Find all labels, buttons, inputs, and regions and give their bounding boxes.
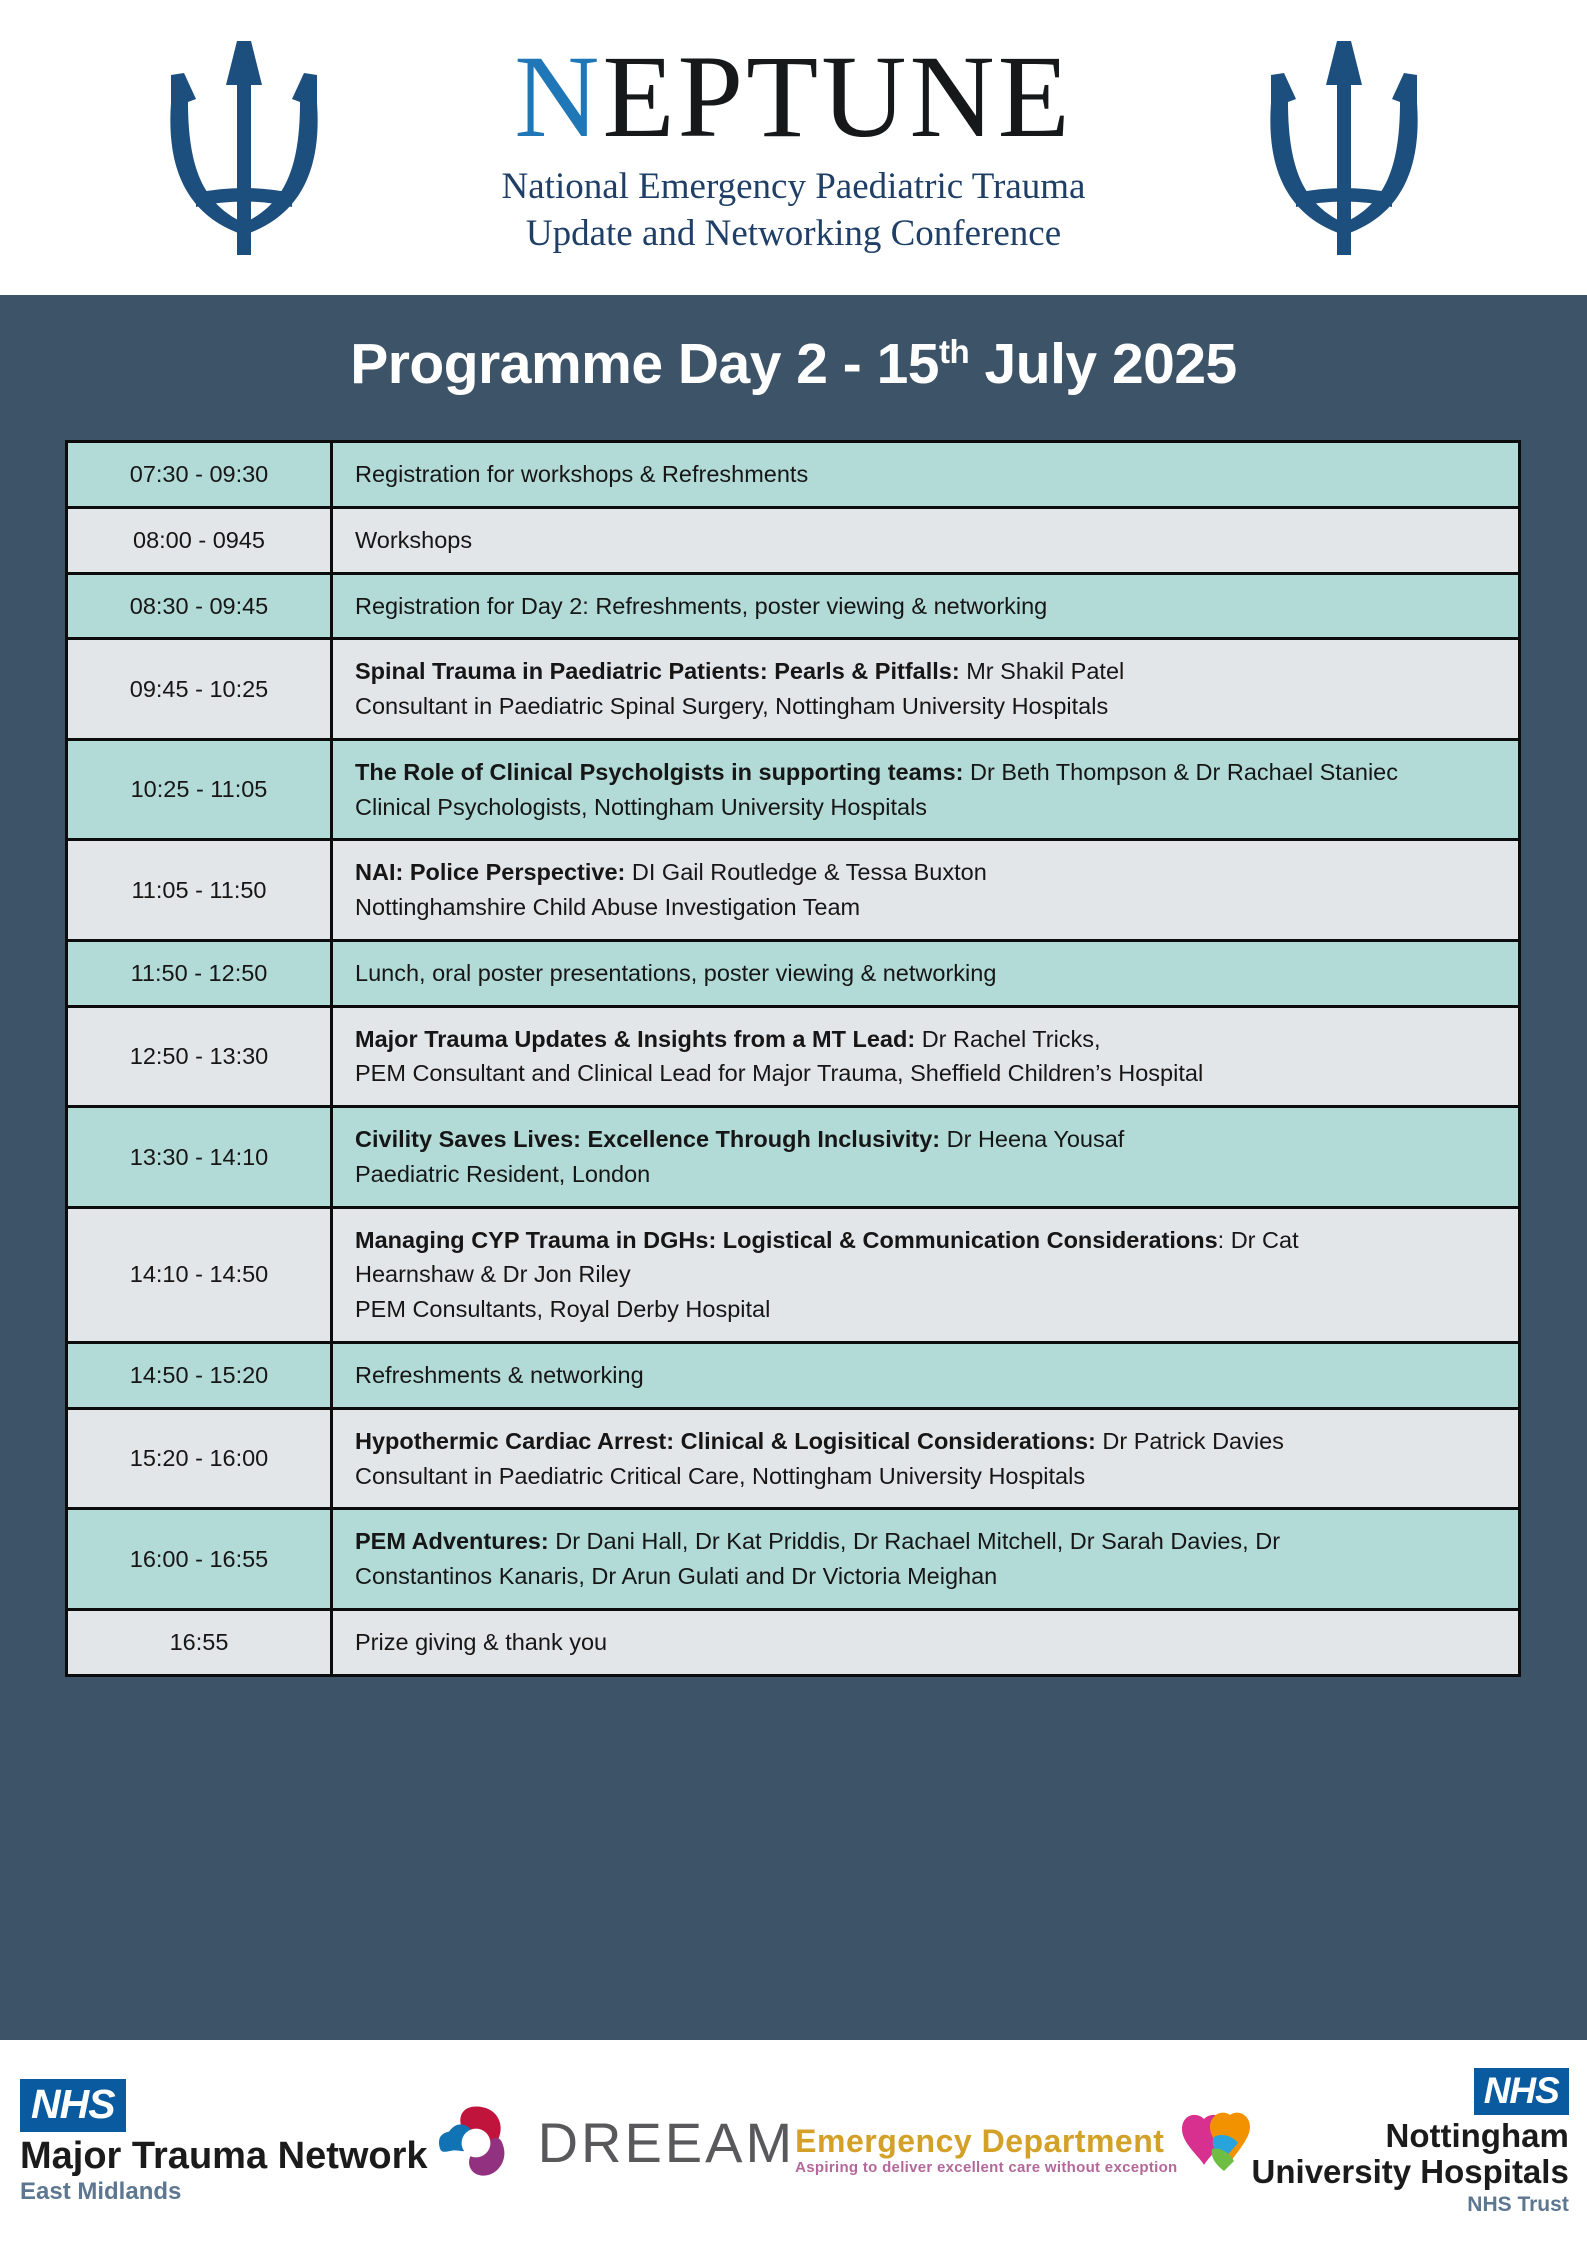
neptune-wordmark: NEPTUNE National Emergency Paediatric Tr…: [354, 38, 1234, 257]
logo-line-1: Nottingham: [1252, 2118, 1569, 2154]
session-time: 13:30 - 14:10: [67, 1107, 332, 1208]
conference-logo-header: NEPTUNE National Emergency Paediatric Tr…: [0, 0, 1587, 295]
session-description: Hypothermic Cardiac Arrest: Clinical & L…: [332, 1408, 1520, 1509]
nhs-major-trauma-network-logo: NHS Major Trauma Network East Midlands: [20, 2079, 428, 2205]
session-description-line: Refreshments & networking: [355, 1358, 1498, 1393]
session-description: Registration for Day 2: Refreshments, po…: [332, 573, 1520, 639]
neptune-rest: EPTUNE: [602, 31, 1072, 162]
session-speaker: Hearnshaw & Dr Jon Riley: [355, 1261, 631, 1287]
session-speaker: Lunch, oral poster presentations, poster…: [355, 960, 996, 986]
logo-line-2: University Hospitals: [1252, 2154, 1569, 2190]
session-description: Refreshments & networking: [332, 1343, 1520, 1409]
session-title: NAI: Police Perspective:: [355, 859, 625, 885]
page-title: Programme Day 2 - 15th July 2025: [0, 295, 1587, 397]
nhs-badge: NHS: [1474, 2068, 1569, 2115]
session-time: 14:50 - 15:20: [67, 1343, 332, 1409]
session-speaker: Dr Heena Yousaf: [940, 1126, 1124, 1152]
session-speaker: Consultant in Paediatric Critical Care, …: [355, 1463, 1085, 1489]
programme-panel: Programme Day 2 - 15th July 2025 07:30 -…: [0, 295, 1587, 2040]
emergency-department-wordmark: Emergency Department: [795, 2125, 1177, 2159]
session-speaker: : Dr Cat: [1218, 1227, 1299, 1253]
session-time: 11:05 - 11:50: [67, 840, 332, 941]
session-description-line: PEM Consultants, Royal Derby Hospital: [355, 1292, 1498, 1327]
session-time: 14:10 - 14:50: [67, 1207, 332, 1342]
dreeam-logo: DREEAM: [428, 2095, 796, 2191]
session-speaker: Dr Rachel Tricks,: [915, 1026, 1100, 1052]
sponsor-logos-footer: NHS Major Trauma Network East Midlands D…: [0, 2040, 1587, 2245]
session-description-line: Clinical Psychologists, Nottingham Unive…: [355, 790, 1498, 825]
session-speaker: Clinical Psychologists, Nottingham Unive…: [355, 794, 927, 820]
table-row: 11:50 - 12:50Lunch, oral poster presenta…: [67, 940, 1520, 1006]
emergency-department-tagline: Aspiring to deliver excellent care witho…: [795, 2159, 1177, 2177]
session-speaker: Consultant in Paediatric Spinal Surgery,…: [355, 693, 1108, 719]
session-title: PEM Adventures:: [355, 1528, 549, 1554]
table-row: 08:30 - 09:45Registration for Day 2: Ref…: [67, 573, 1520, 639]
neptune-title: NEPTUNE: [354, 38, 1234, 156]
session-time: 07:30 - 09:30: [67, 442, 332, 508]
session-description: PEM Adventures: Dr Dani Hall, Dr Kat Pri…: [332, 1509, 1520, 1610]
session-time: 10:25 - 11:05: [67, 739, 332, 840]
session-speaker: Prize giving & thank you: [355, 1629, 607, 1655]
table-row: 13:30 - 14:10Civility Saves Lives: Excel…: [67, 1107, 1520, 1208]
table-row: 15:20 - 16:00Hypothermic Cardiac Arrest:…: [67, 1408, 1520, 1509]
session-time: 08:00 - 0945: [67, 507, 332, 573]
session-speaker: Dr Patrick Davies: [1096, 1428, 1284, 1454]
session-description-line: Hearnshaw & Dr Jon Riley: [355, 1257, 1498, 1292]
session-description-line: Nottinghamshire Child Abuse Investigatio…: [355, 890, 1498, 925]
session-description-line: Lunch, oral poster presentations, poster…: [355, 956, 1498, 991]
session-description-line: The Role of Clinical Psycholgists in sup…: [355, 755, 1498, 790]
session-description-line: Managing CYP Trauma in DGHs: Logistical …: [355, 1223, 1498, 1258]
session-speaker: Registration for Day 2: Refreshments, po…: [355, 593, 1047, 619]
session-time: 16:55: [67, 1609, 332, 1675]
table-row: 09:45 - 10:25Spinal Trauma in Paediatric…: [67, 639, 1520, 740]
trident-icon: [1244, 33, 1444, 263]
session-description-line: Constantinos Kanaris, Dr Arun Gulati and…: [355, 1559, 1498, 1594]
logo-line-1: Major Trauma Network: [20, 2136, 428, 2178]
table-row: 12:50 - 13:30Major Trauma Updates & Insi…: [67, 1006, 1520, 1107]
table-row: 08:00 - 0945Workshops: [67, 507, 1520, 573]
session-description: Spinal Trauma in Paediatric Patients: Pe…: [332, 639, 1520, 740]
session-description-line: Workshops: [355, 523, 1498, 558]
dreeam-wordmark: DREEAM: [538, 2110, 796, 2175]
session-speaker: Nottinghamshire Child Abuse Investigatio…: [355, 894, 860, 920]
session-title: Managing CYP Trauma in DGHs: Logistical …: [355, 1227, 1218, 1253]
session-speaker: Dr Beth Thompson & Dr Rachael Staniec: [963, 759, 1398, 785]
session-speaker: Dr Dani Hall, Dr Kat Priddis, Dr Rachael…: [549, 1528, 1280, 1554]
session-title: The Role of Clinical Psycholgists in sup…: [355, 759, 963, 785]
session-title: Civility Saves Lives: Excellence Through…: [355, 1126, 940, 1152]
session-description: NAI: Police Perspective: DI Gail Routled…: [332, 840, 1520, 941]
session-speaker: PEM Consultants, Royal Derby Hospital: [355, 1296, 770, 1322]
session-description: The Role of Clinical Psycholgists in sup…: [332, 739, 1520, 840]
page-title-suffix: July 2025: [969, 332, 1237, 396]
session-description-line: Hypothermic Cardiac Arrest: Clinical & L…: [355, 1424, 1498, 1459]
session-speaker: Workshops: [355, 527, 472, 553]
session-time: 08:30 - 09:45: [67, 573, 332, 639]
session-speaker: Registration for workshops & Refreshment…: [355, 461, 808, 487]
session-speaker: Mr Shakil Patel: [960, 658, 1125, 684]
session-time: 16:00 - 16:55: [67, 1509, 332, 1610]
emergency-department-logo: Emergency Department Aspiring to deliver…: [795, 2109, 1251, 2177]
session-description: Major Trauma Updates & Insights from a M…: [332, 1006, 1520, 1107]
session-title: Spinal Trauma in Paediatric Patients: Pe…: [355, 658, 960, 684]
neptune-initial: N: [514, 31, 602, 162]
dreeam-mark-icon: [428, 2095, 524, 2191]
session-title: Hypothermic Cardiac Arrest: Clinical & L…: [355, 1428, 1096, 1454]
table-row: 14:10 - 14:50Managing CYP Trauma in DGHs…: [67, 1207, 1520, 1342]
session-description-line: Consultant in Paediatric Critical Care, …: [355, 1459, 1498, 1494]
session-time: 12:50 - 13:30: [67, 1006, 332, 1107]
session-description-line: Consultant in Paediatric Spinal Surgery,…: [355, 689, 1498, 724]
heart-icon: [1180, 2109, 1252, 2175]
table-row: 07:30 - 09:30Registration for workshops …: [67, 442, 1520, 508]
logo-subtitle-line-2: Update and Networking Conference: [354, 211, 1234, 257]
session-speaker: Constantinos Kanaris, Dr Arun Gulati and…: [355, 1563, 997, 1589]
session-description-line: Registration for Day 2: Refreshments, po…: [355, 589, 1498, 624]
session-speaker: DI Gail Routledge & Tessa Buxton: [625, 859, 986, 885]
programme-table: 07:30 - 09:30Registration for workshops …: [65, 440, 1521, 1677]
page-title-prefix: Programme Day 2 - 15: [350, 332, 939, 396]
session-description-line: Major Trauma Updates & Insights from a M…: [355, 1022, 1498, 1057]
table-row: 14:50 - 15:20Refreshments & networking: [67, 1343, 1520, 1409]
session-description-line: Paediatric Resident, London: [355, 1157, 1498, 1192]
table-row: 10:25 - 11:05The Role of Clinical Psycho…: [67, 739, 1520, 840]
logo-line-2: East Midlands: [20, 2179, 428, 2205]
nhs-badge: NHS: [20, 2079, 126, 2132]
session-description-line: PEM Consultant and Clinical Lead for Maj…: [355, 1056, 1498, 1091]
session-description-line: Prize giving & thank you: [355, 1625, 1498, 1660]
table-row: 16:55Prize giving & thank you: [67, 1609, 1520, 1675]
session-description-line: PEM Adventures: Dr Dani Hall, Dr Kat Pri…: [355, 1524, 1498, 1559]
table-row: 11:05 - 11:50NAI: Police Perspective: DI…: [67, 840, 1520, 941]
session-time: 09:45 - 10:25: [67, 639, 332, 740]
session-description-line: Civility Saves Lives: Excellence Through…: [355, 1122, 1498, 1157]
nottingham-university-hospitals-logo: NHS Nottingham University Hospitals NHS …: [1252, 2068, 1569, 2218]
session-description-line: Registration for workshops & Refreshment…: [355, 457, 1498, 492]
session-description: Civility Saves Lives: Excellence Through…: [332, 1107, 1520, 1208]
session-speaker: Refreshments & networking: [355, 1362, 644, 1388]
logo-subtitle-line-1: National Emergency Paediatric Trauma: [354, 164, 1234, 210]
session-description-line: NAI: Police Perspective: DI Gail Routled…: [355, 855, 1498, 890]
session-description: Workshops: [332, 507, 1520, 573]
session-time: 11:50 - 12:50: [67, 940, 332, 1006]
session-time: 15:20 - 16:00: [67, 1408, 332, 1509]
session-description: Lunch, oral poster presentations, poster…: [332, 940, 1520, 1006]
table-row: 16:00 - 16:55PEM Adventures: Dr Dani Hal…: [67, 1509, 1520, 1610]
session-speaker: PEM Consultant and Clinical Lead for Maj…: [355, 1060, 1203, 1086]
logo-line-3: NHS Trust: [1252, 2192, 1569, 2217]
session-description: Managing CYP Trauma in DGHs: Logistical …: [332, 1207, 1520, 1342]
session-description-line: Spinal Trauma in Paediatric Patients: Pe…: [355, 654, 1498, 689]
session-description: Registration for workshops & Refreshment…: [332, 442, 1520, 508]
session-speaker: Paediatric Resident, London: [355, 1161, 650, 1187]
trident-icon: [144, 33, 344, 263]
session-description: Prize giving & thank you: [332, 1609, 1520, 1675]
session-title: Major Trauma Updates & Insights from a M…: [355, 1026, 915, 1052]
page-title-ordinal: th: [939, 334, 969, 371]
